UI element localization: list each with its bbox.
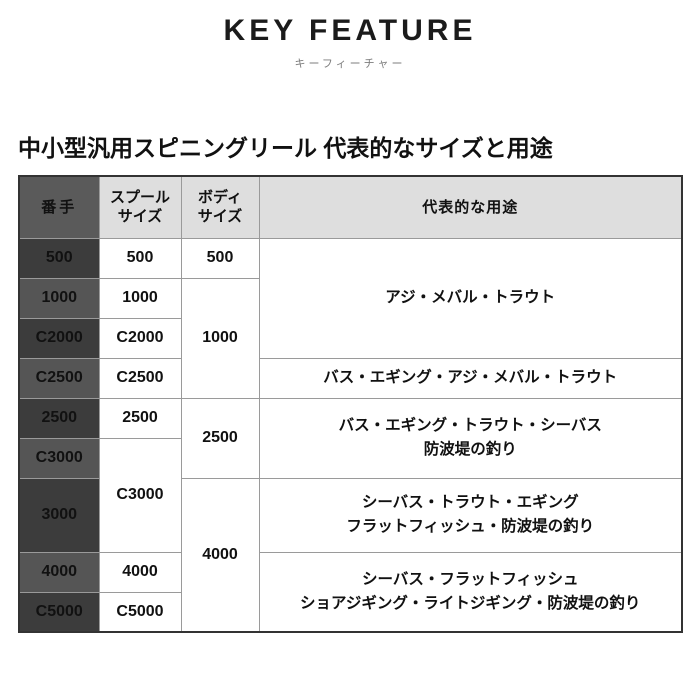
cell-body-size: 4000: [181, 478, 259, 632]
cell-spool-size: 500: [99, 238, 181, 278]
key-feature-header: KEY FEATURE キーフィーチャー: [0, 0, 700, 71]
cell-model-number: 2500: [19, 398, 99, 438]
usage-line: バス・エギング・アジ・メバル・トラウト: [260, 366, 682, 390]
cell-spool-size: C2000: [99, 318, 181, 358]
table-header: 番手 スプール サイズ ボディ サイズ 代表的な用途: [19, 176, 682, 238]
cell-model-number: C5000: [19, 592, 99, 632]
column-header-body-size: ボディ サイズ: [181, 176, 259, 238]
column-header-spool-size-line1: スプール: [110, 189, 170, 206]
cell-usage: アジ・メバル・トラウト: [259, 238, 682, 358]
table-row: 500 500 500 アジ・メバル・トラウト: [19, 238, 682, 278]
cell-usage: バス・エギング・アジ・メバル・トラウト: [259, 358, 682, 398]
usage-line: ショアジギング・ライトジギング・防波堤の釣り: [260, 592, 682, 616]
page-title: KEY FEATURE: [0, 14, 700, 49]
cell-model-number: C2500: [19, 358, 99, 398]
cell-body-size: 500: [181, 238, 259, 278]
cell-usage: シーバス・トラウト・エギング フラットフィッシュ・防波堤の釣り: [259, 478, 682, 552]
cell-spool-size: 2500: [99, 398, 181, 438]
column-header-body-size-line1: ボディ: [198, 189, 242, 206]
cell-model-number: 3000: [19, 478, 99, 552]
column-header-model-number: 番手: [19, 176, 99, 238]
cell-spool-size: C5000: [99, 592, 181, 632]
usage-line: シーバス・トラウト・エギング: [260, 491, 682, 515]
usage-line: 防波堤の釣り: [260, 438, 682, 462]
column-header-usage: 代表的な用途: [259, 176, 682, 238]
table-row: 4000 4000 シーバス・フラットフィッシュ ショアジギング・ライトジギング…: [19, 552, 682, 592]
usage-line: フラットフィッシュ・防波堤の釣り: [260, 515, 682, 539]
usage-line: シーバス・フラットフィッシュ: [260, 568, 682, 592]
cell-usage: シーバス・フラットフィッシュ ショアジギング・ライトジギング・防波堤の釣り: [259, 552, 682, 632]
table-row: C2500 C2500 バス・エギング・アジ・メバル・トラウト: [19, 358, 682, 398]
column-header-spool-size: スプール サイズ: [99, 176, 181, 238]
cell-body-size: 1000: [181, 278, 259, 398]
cell-spool-size: C2500: [99, 358, 181, 398]
cell-body-size: 2500: [181, 398, 259, 478]
usage-line: バス・エギング・トラウト・シーバス: [260, 414, 682, 438]
column-header-spool-size-line2: サイズ: [118, 208, 163, 225]
section-heading: 中小型汎用スピニングリール 代表的なサイズと用途: [18, 129, 553, 163]
key-feature-page: KEY FEATURE キーフィーチャー 中小型汎用スピニングリール 代表的なサ…: [0, 0, 700, 700]
column-header-body-size-line2: サイズ: [198, 208, 243, 225]
table-body: 500 500 500 アジ・メバル・トラウト 1000 1000 1000 C…: [19, 238, 682, 632]
reel-size-table: 番手 スプール サイズ ボディ サイズ 代表的な用途 500 500: [18, 175, 683, 633]
cell-model-number: C3000: [19, 438, 99, 478]
cell-spool-size: 1000: [99, 278, 181, 318]
page-subtitle: キーフィーチャー: [0, 55, 700, 71]
cell-model-number: 4000: [19, 552, 99, 592]
spec-table-wrapper: 番手 スプール サイズ ボディ サイズ 代表的な用途 500 500: [18, 175, 681, 633]
usage-line: アジ・メバル・トラウト: [260, 286, 682, 310]
cell-model-number: C2000: [19, 318, 99, 358]
cell-model-number: 500: [19, 238, 99, 278]
cell-spool-size: 4000: [99, 552, 181, 592]
cell-spool-size: C3000: [99, 438, 181, 552]
table-header-row: 番手 スプール サイズ ボディ サイズ 代表的な用途: [19, 176, 682, 238]
cell-model-number: 1000: [19, 278, 99, 318]
cell-usage: バス・エギング・トラウト・シーバス 防波堤の釣り: [259, 398, 682, 478]
table-row: 2500 2500 2500 バス・エギング・トラウト・シーバス 防波堤の釣り: [19, 398, 682, 438]
